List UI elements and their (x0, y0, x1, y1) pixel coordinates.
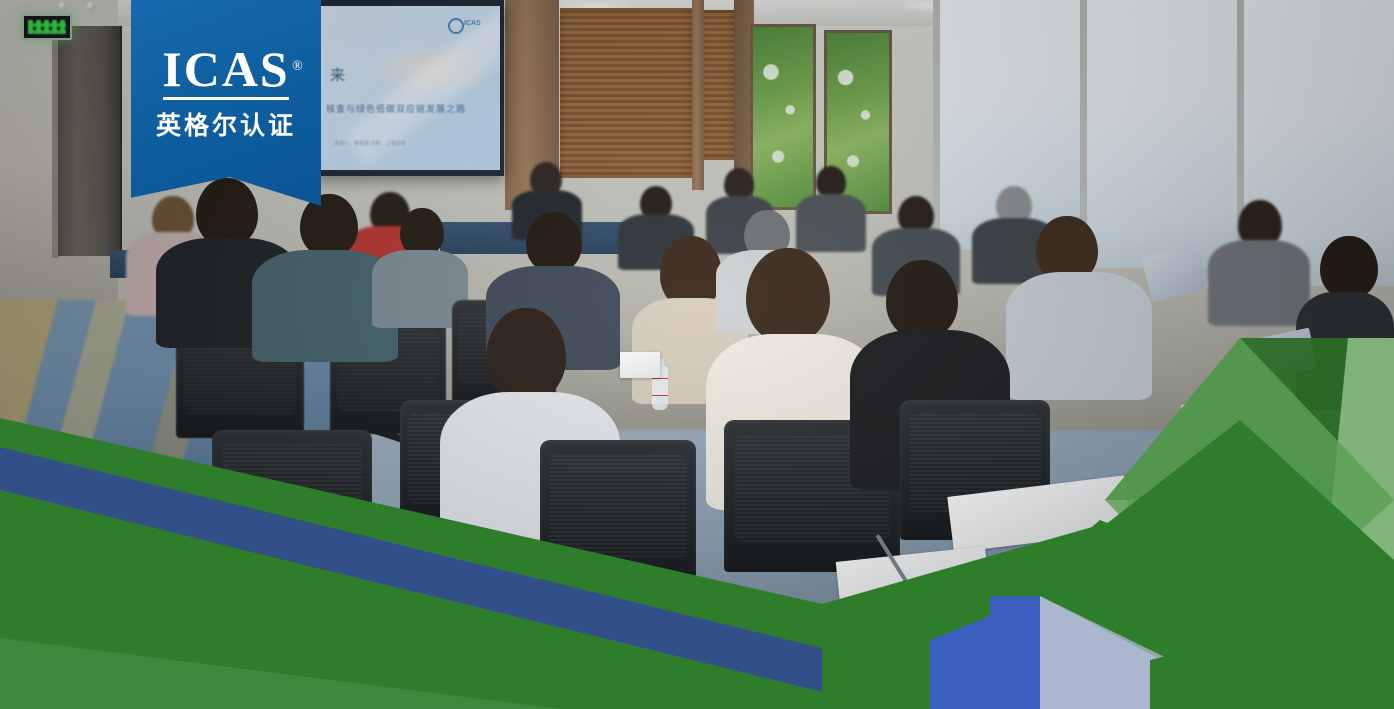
handout-paper (620, 352, 660, 378)
person-head (1320, 236, 1378, 298)
screen-subline: 核查与绿色低碳双应链发展之路 (326, 102, 466, 115)
presentation-screen: ICAS 来 核查与绿色低碳双应链发展之路 演讲人：审核部 日期：上海会场 (320, 6, 500, 170)
person-head (886, 260, 958, 338)
ring-icon (448, 18, 464, 34)
person-body (1006, 272, 1152, 400)
person-head (400, 208, 444, 256)
window-mullion (933, 0, 940, 246)
bottle-label (652, 378, 668, 396)
person-head (300, 194, 358, 256)
registered-mark-icon: ® (292, 42, 305, 92)
person-body (796, 194, 866, 252)
icas-logo-lockup: ICAS ® 英格尔认证 (131, 44, 321, 142)
screenshot-canvas: ICAS 来 核查与绿色低碳双应链发展之路 演讲人：审核部 日期：上海会场 (0, 0, 1394, 709)
sprinkler-icon (58, 2, 67, 11)
icas-logo-panel: ICAS ® 英格尔认证 (131, 0, 321, 206)
person-body (1208, 240, 1310, 326)
screen-footnote: 演讲人：审核部 日期：上海会场 (334, 140, 405, 148)
office-chair (212, 430, 372, 570)
window-pane (1087, 0, 1237, 268)
person-head (746, 248, 830, 342)
office-chair (540, 440, 696, 586)
person-head (196, 178, 258, 246)
window-blinds (560, 8, 692, 178)
exit-sign (22, 14, 72, 40)
person-head (526, 212, 582, 272)
screen-logo-text: ICAS (464, 20, 481, 27)
window-blinds (700, 10, 734, 160)
icas-wordmark: ICAS ® (162, 44, 289, 94)
logo-underline (163, 97, 289, 100)
screen-headline: 来 (330, 64, 347, 85)
door (58, 26, 122, 256)
wood-panel (692, 0, 704, 190)
person-head (486, 308, 566, 400)
sprinkler-icon (86, 2, 95, 11)
wall-artwork (750, 24, 816, 210)
icas-wordmark-text: ICAS (162, 41, 289, 97)
icas-chinese-name: 英格尔认证 (131, 106, 321, 142)
screen-logo: ICAS (448, 18, 488, 30)
